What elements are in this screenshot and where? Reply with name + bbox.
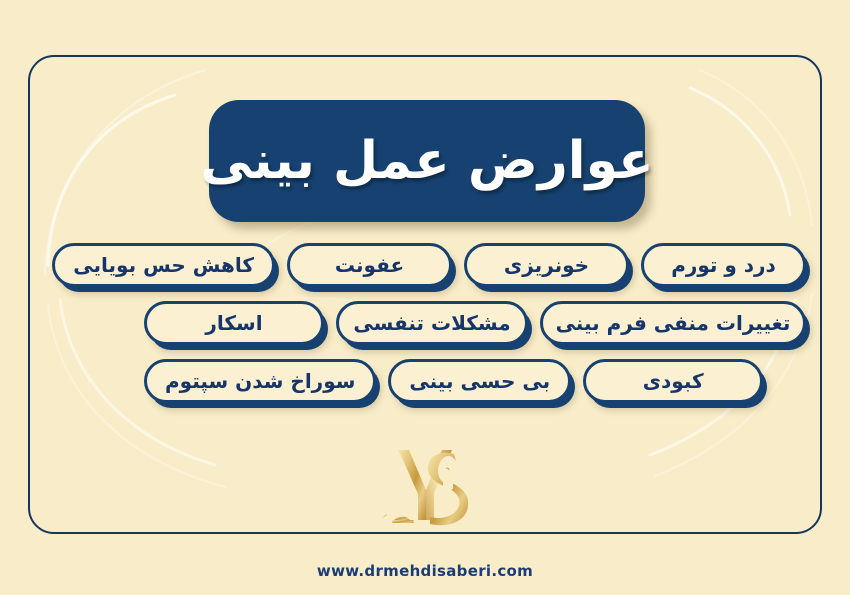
logo-curved-text: Dr. Mehdi Saberi xyxy=(376,438,389,518)
complications-row-3: کبودی بی حسی بینی سوراخ شدن سپتوم xyxy=(44,359,806,403)
complication-label: سوراخ شدن سپتوم xyxy=(165,371,355,391)
complication-pill[interactable]: مشکلات تنفسی xyxy=(336,301,528,345)
complication-pill[interactable]: سوراخ شدن سپتوم xyxy=(144,359,376,403)
complication-label: خونریزی xyxy=(504,255,589,275)
complications-row-2: تغییرات منفی فرم بینی مشکلات تنفسی اسکار xyxy=(44,301,806,345)
complication-label: تغییرات منفی فرم بینی xyxy=(556,313,791,333)
complications-row-1: درد و تورم خونریزی عفونت کاهش حس بویایی xyxy=(44,243,806,287)
complication-pill[interactable]: اسکار xyxy=(144,301,324,345)
complication-pill[interactable]: درد و تورم xyxy=(641,243,806,287)
complication-label: مشکلات تنفسی xyxy=(353,313,510,333)
complication-label: اسکار xyxy=(205,313,262,333)
complication-label: عفونت xyxy=(335,255,404,275)
brand-logo: Dr. Mehdi Saberi xyxy=(376,438,476,530)
poster-canvas: عوارض عمل بینی درد و تورم خونریزی عفونت … xyxy=(0,0,850,595)
complication-label: بی حسی بینی xyxy=(409,371,550,391)
ms-monogram-icon: Dr. Mehdi Saberi xyxy=(376,438,476,530)
complication-pill[interactable]: کاهش حس بویایی xyxy=(52,243,275,287)
complication-pill[interactable]: تغییرات منفی فرم بینی xyxy=(540,301,806,345)
complication-pill[interactable]: خونریزی xyxy=(464,243,629,287)
complication-pill[interactable]: بی حسی بینی xyxy=(388,359,571,403)
complication-pill[interactable]: عفونت xyxy=(287,243,452,287)
website-url[interactable]: www.drmehdisaberi.com xyxy=(0,562,850,580)
title-banner: عوارض عمل بینی xyxy=(209,100,645,222)
complication-label: کاهش حس بویایی xyxy=(73,255,254,275)
complication-label: کبودی xyxy=(643,371,704,391)
complication-pill[interactable]: کبودی xyxy=(583,359,763,403)
complication-label: درد و تورم xyxy=(671,255,776,275)
page-title: عوارض عمل بینی xyxy=(200,135,653,187)
complications-list: درد و تورم خونریزی عفونت کاهش حس بویایی … xyxy=(44,243,806,417)
